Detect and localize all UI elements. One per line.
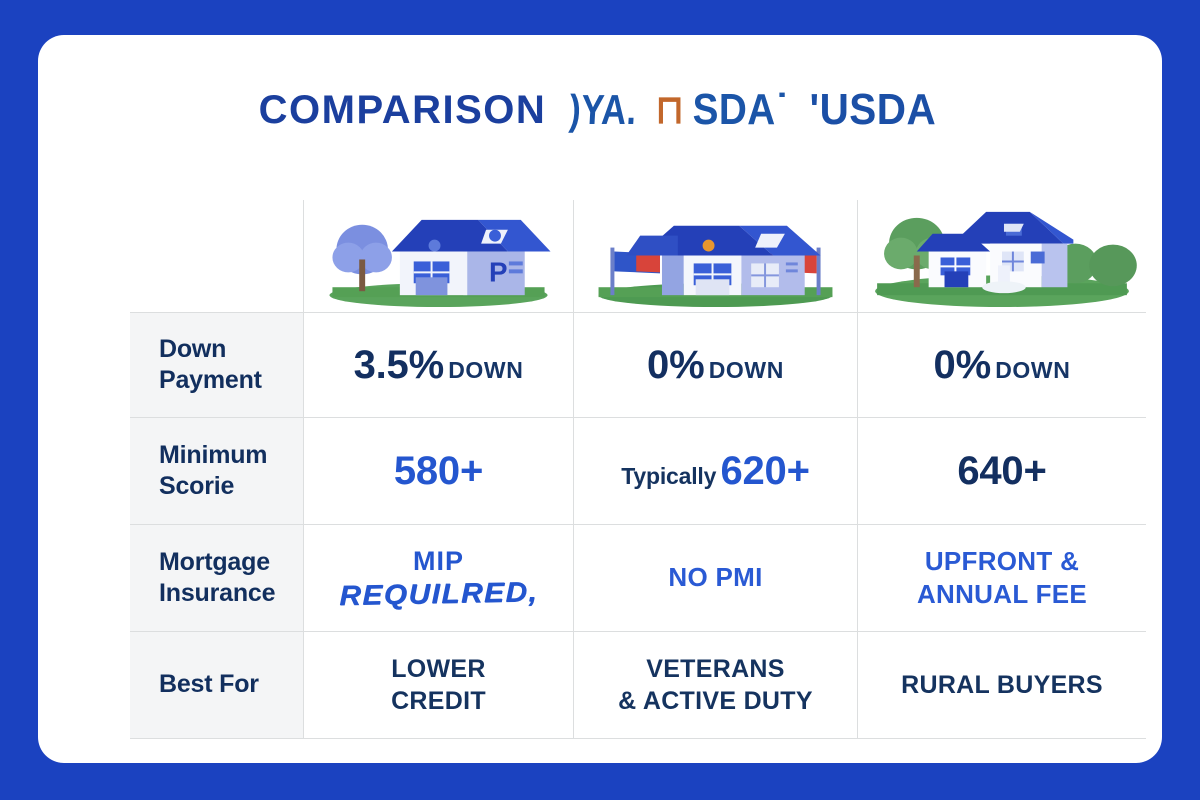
value-line-1: LOWER [391, 653, 486, 686]
row-label-best-for: Best For [130, 632, 304, 738]
value-line-1: NO PMI [668, 561, 762, 594]
table-row: Best For LOWER CREDIT VETERANS & ACTIVE … [130, 632, 1146, 739]
value-number: 620+ [720, 449, 809, 493]
value-number: 0% [647, 343, 704, 387]
infographic-card: COMPARISON )YA. ⊓ SDA˙ 'USDA [38, 35, 1162, 763]
row-label-text: Mortgage Insurance [159, 547, 303, 610]
house-with-flags-icon [574, 200, 857, 312]
table-row: Minimum Scorie 580+ Typically 620+ 640+ [130, 418, 1146, 525]
value-line-1: VETERANS [618, 653, 813, 686]
cell-fha-down-payment: 3.5% DOWN [304, 313, 574, 417]
cell-usda-minimum-score: 640+ [858, 418, 1146, 524]
value-line-2: & ACTIVE DUTY [618, 685, 813, 718]
title-glyph-usda-1: SDA˙ [693, 85, 789, 135]
cell-va-minimum-score: Typically 620+ [574, 418, 858, 524]
table-header-row: P [130, 200, 1146, 313]
title-accent-mark: ⊓ [656, 87, 685, 133]
cell-fha-best-for: LOWER CREDIT [304, 632, 574, 738]
value-line-1: UPFRONT & [917, 545, 1087, 578]
row-label-minimum-score: Minimum Scorie [130, 418, 304, 524]
svg-text:P: P [489, 256, 508, 287]
header-cell-va [574, 200, 858, 312]
row-label-down-payment: Down Payment [130, 313, 304, 417]
value-prefix: Typically [621, 463, 716, 489]
header-cell-fha: P [304, 200, 574, 312]
cell-va-best-for: VETERANS & ACTIVE DUTY [574, 632, 858, 738]
value-suffix: DOWN [995, 357, 1070, 383]
cell-usda-mortgage-insurance: UPFRONT & ANNUAL FEE [858, 525, 1146, 631]
cell-fha-mortgage-insurance: MIP REQUILRED, [304, 525, 574, 631]
title-glyph-fha: )YA. [568, 86, 638, 134]
page-title: COMPARISON )YA. ⊓ SDA˙ 'USDA [38, 73, 1162, 147]
value-number: 3.5% [354, 343, 444, 387]
value-suffix: DOWN [448, 357, 523, 383]
table-row: Mortgage Insurance MIP REQUILRED, NO PMI… [130, 525, 1146, 632]
cell-va-mortgage-insurance: NO PMI [574, 525, 858, 631]
row-label-text: Down Payment [159, 334, 303, 397]
cell-va-down-payment: 0% DOWN [574, 313, 858, 417]
house-with-tree-icon: P [304, 200, 573, 312]
row-label-text: Minimum Scorie [159, 440, 303, 503]
value-line-1: MIP [345, 545, 533, 577]
header-cell-usda [858, 200, 1146, 312]
value-line-2: REQUILRED, [339, 575, 538, 613]
row-label-text: Best For [159, 669, 259, 701]
value-line-1: RURAL BUYERS [901, 669, 1103, 702]
header-label-cell [130, 200, 304, 312]
value-number: 0% [934, 343, 991, 387]
value-line-2: ANNUAL FEE [917, 578, 1087, 611]
value-suffix: DOWN [709, 357, 784, 383]
row-label-mortgage-insurance: Mortgage Insurance [130, 525, 304, 631]
value-number: 580+ [394, 449, 483, 493]
cell-usda-down-payment: 0% DOWN [858, 313, 1146, 417]
cell-usda-best-for: RURAL BUYERS [858, 632, 1146, 738]
value-number: 640+ [957, 449, 1046, 493]
table-row: Down Payment 3.5% DOWN 0% DOWN 0% DOWN [130, 313, 1146, 418]
rural-house-with-trees-icon [858, 200, 1146, 312]
title-glyph-usda-2: 'USDA [809, 85, 936, 135]
cell-fha-minimum-score: 580+ [304, 418, 574, 524]
comparison-table: P [130, 200, 1146, 746]
title-word-comparison: COMPARISON [259, 88, 547, 133]
value-line-2: CREDIT [391, 685, 486, 718]
